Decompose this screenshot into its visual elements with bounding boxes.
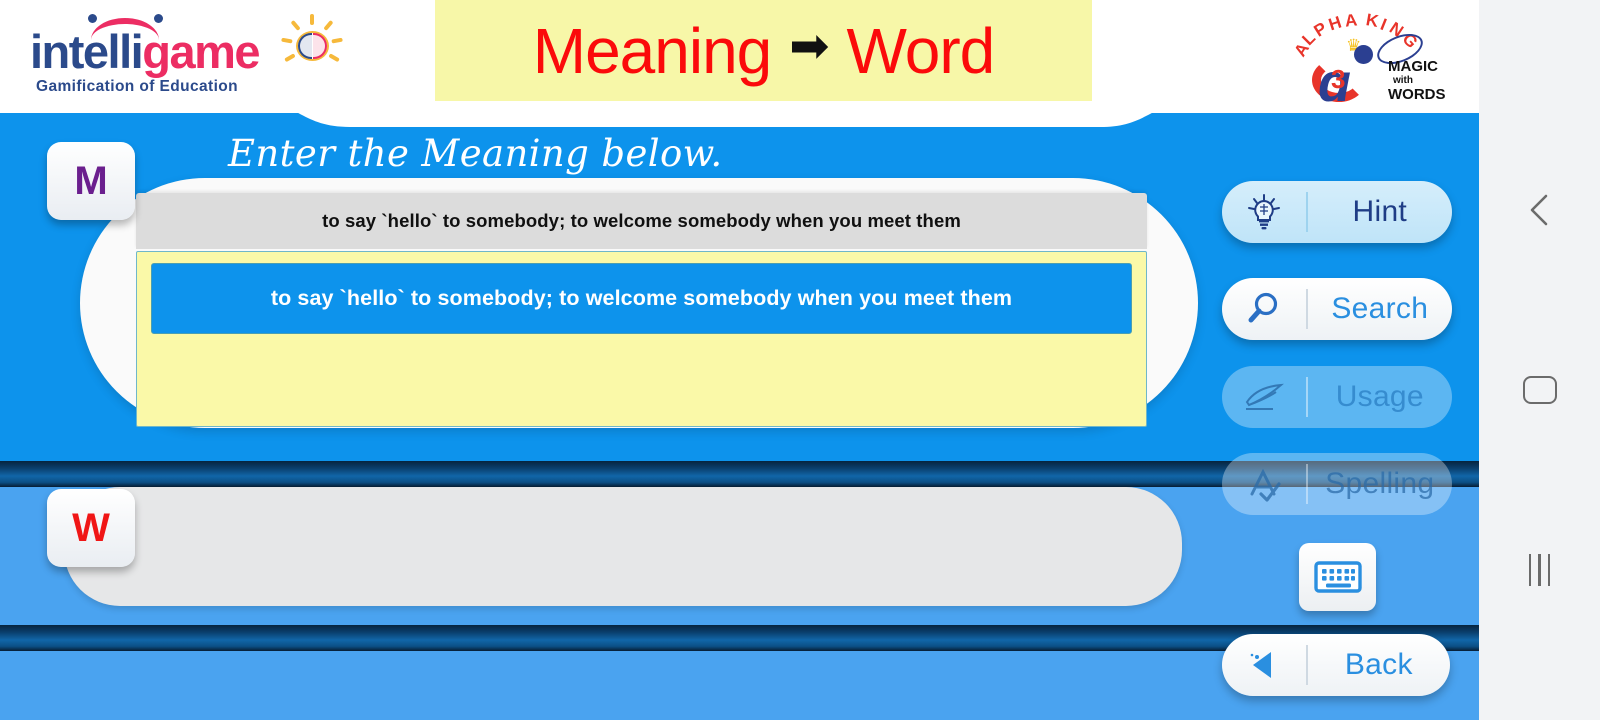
search-button[interactable]: Search	[1222, 278, 1452, 340]
lightbulb-brain-icon	[1222, 192, 1306, 232]
usage-button[interactable]: Usage	[1222, 366, 1452, 428]
king-head-icon	[1354, 45, 1373, 64]
word-input-panel[interactable]	[64, 487, 1182, 606]
alpha-king-number: 3	[1331, 64, 1345, 95]
search-label: Search	[1308, 292, 1452, 326]
page-title: Meaning ➡ Word	[435, 0, 1092, 101]
magic-label: MAGIC	[1388, 60, 1438, 74]
page-title-meaning: Meaning	[533, 14, 772, 88]
magnifier-icon	[1222, 289, 1306, 329]
words-label: WORDS	[1388, 86, 1446, 103]
logo-dot-right	[154, 14, 163, 23]
phone-screen: Enter the Meaning below. to say `hello` …	[0, 0, 1479, 720]
meaning-display-text: to say `hello` to somebody; to welcome s…	[322, 210, 961, 232]
page-title-word: Word	[846, 14, 994, 88]
recents-bars-icon[interactable]	[1512, 542, 1568, 598]
keyboard-icon	[1313, 558, 1363, 596]
prompt-label: Enter the Meaning below.	[228, 132, 723, 175]
spelling-button[interactable]: Spelling	[1222, 453, 1452, 515]
logo-tagline: Gamification of Education	[36, 78, 238, 96]
meaning-suggestion-text: to say `hello` to somebody; to welcome s…	[271, 286, 1012, 311]
arrow-right-icon: ➡	[789, 23, 828, 71]
alpha-king-logo: A L P H A K I N G ♛ ɑ 3 MAGIC with W	[1288, 8, 1458, 106]
writing-hand-icon	[1222, 380, 1306, 414]
badge-word: W	[47, 489, 135, 567]
a-check-icon	[1222, 464, 1306, 504]
logo-word-intelli: intelli	[30, 25, 142, 78]
logo-dot-left	[88, 14, 97, 23]
keyboard-button[interactable]	[1299, 543, 1376, 611]
intelligame-logo: intelligame Gamification of Education	[18, 8, 338, 104]
logo-word-game: game	[142, 25, 259, 78]
back-label: Back	[1308, 648, 1450, 682]
meaning-suggestion-row[interactable]: to say `hello` to somebody; to welcome s…	[151, 263, 1132, 334]
meaning-display-bar: to say `hello` to somebody; to welcome s…	[136, 193, 1147, 249]
android-navbar	[1479, 0, 1600, 720]
usage-label: Usage	[1308, 380, 1452, 414]
logo-wordmark: intelligame	[30, 24, 259, 79]
back-button[interactable]: Back	[1222, 634, 1450, 696]
hint-button[interactable]: Hint	[1222, 181, 1452, 243]
home-square-icon[interactable]	[1512, 362, 1568, 418]
hint-label: Hint	[1308, 195, 1452, 229]
back-chevron-icon[interactable]	[1512, 182, 1568, 238]
left-triangle-icon	[1222, 647, 1306, 683]
badge-meaning: M	[47, 142, 135, 220]
sun-brain-icon	[279, 14, 345, 74]
meaning-input-area[interactable]: to say `hello` to somebody; to welcome s…	[136, 251, 1147, 427]
spelling-label: Spelling	[1308, 467, 1452, 501]
app-root: Enter the Meaning below. to say `hello` …	[0, 0, 1600, 720]
with-label: with	[1393, 75, 1413, 86]
